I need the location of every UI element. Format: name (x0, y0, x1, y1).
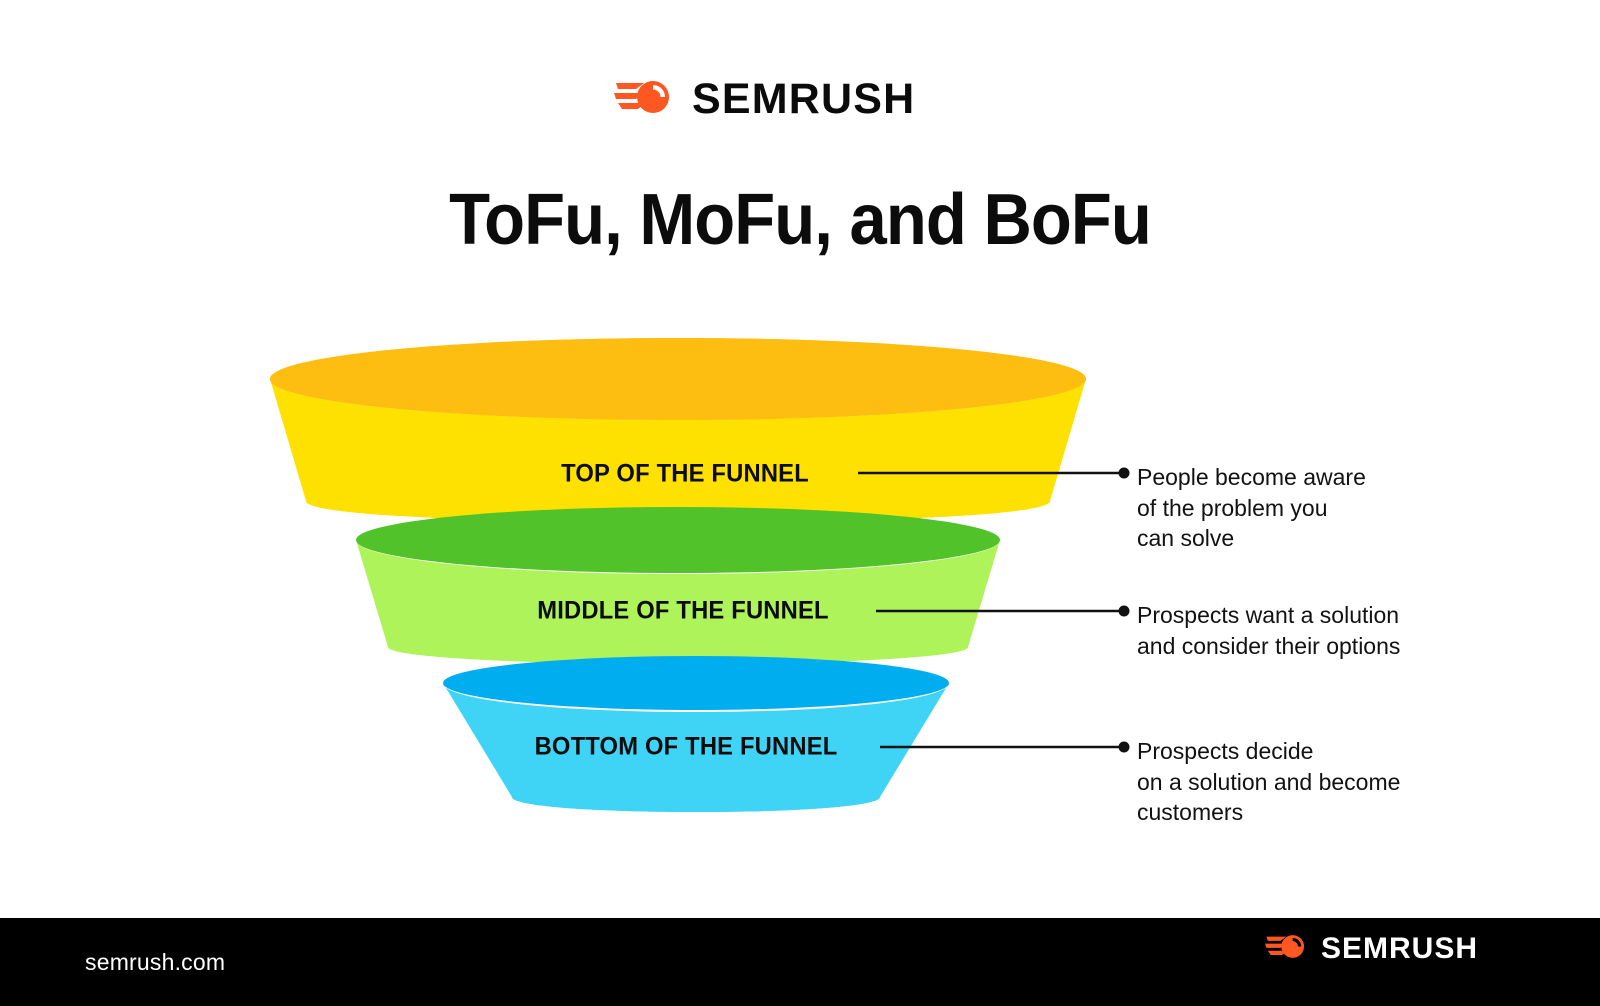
page-title: ToFu, MoFu, and BoFu (56, 184, 1544, 256)
footer-website-url[interactable]: semrush.com (85, 925, 225, 999)
funnel-stage-tofu-rim (270, 338, 1086, 420)
leader-dots (1119, 468, 1130, 753)
leader-dot-mofu (1119, 606, 1130, 617)
leader-dot-bofu (1119, 742, 1130, 753)
leader-dot-tofu (1119, 468, 1130, 479)
semrush-logo-header: SEMRUSH (614, 74, 915, 125)
funnel-stage-label-mofu: MIDDLE OF THE FUNNEL (537, 597, 828, 626)
funnel-stage-label-tofu: TOP OF THE FUNNEL (561, 460, 809, 489)
infographic-canvas: SEMRUSH ToFu, MoFu, and BoFu (0, 0, 1600, 1006)
leader-lines (858, 473, 1122, 747)
funnel-stage-tofu-body (270, 379, 1086, 522)
funnel-stage-bofu-bottom-edge (512, 782, 880, 812)
funnel-annotation-mofu: Prospects want a solution and consider t… (1137, 600, 1400, 661)
funnel-stage-tofu-inner-shadow (270, 338, 1086, 420)
semrush-wordmark-footer: SEMRUSH (1321, 934, 1478, 964)
semrush-comet-icon-footer (1265, 930, 1309, 968)
funnel-stage-mofu-bottom-edge (388, 630, 968, 664)
semrush-logo-footer: SEMRUSH (1265, 930, 1478, 968)
funnel-stage-mofu-rim (356, 507, 1000, 573)
funnel-stage-bofu-rim (443, 656, 949, 710)
funnel-stage-tofu (270, 338, 1086, 522)
funnel-stage-mofu (356, 507, 1000, 664)
funnel-annotation-bofu: Prospects decide on a solution and becom… (1137, 736, 1400, 828)
funnel-annotation-tofu: People become aware of the problem you c… (1137, 462, 1366, 554)
semrush-comet-icon (614, 74, 676, 125)
funnel-stage-label-bofu: BOTTOM OF THE FUNNEL (535, 733, 838, 762)
semrush-wordmark: SEMRUSH (692, 78, 915, 121)
